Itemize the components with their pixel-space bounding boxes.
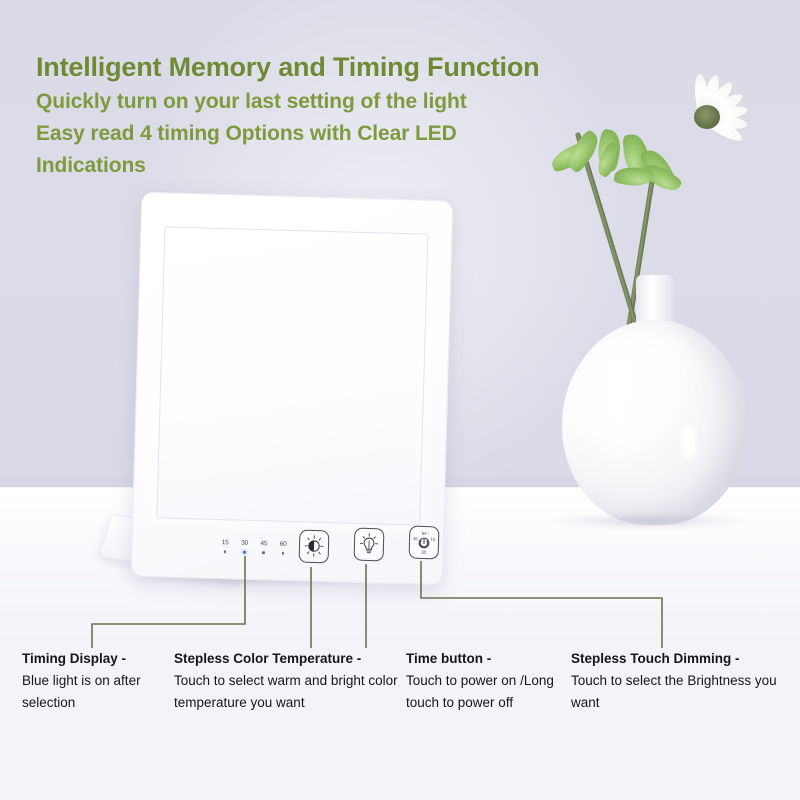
timing-option-15: 15 bbox=[217, 539, 234, 561]
callout-title: Stepless Touch Dimming - bbox=[571, 648, 796, 670]
callout-title: Time button - bbox=[406, 648, 566, 670]
vase-highlight-small bbox=[682, 425, 696, 459]
callout-time-button: Time button - Touch to power on /Long to… bbox=[406, 648, 566, 714]
flower-center bbox=[694, 105, 720, 129]
time-button[interactable] bbox=[354, 528, 385, 562]
timing-label-30: 30 bbox=[236, 540, 252, 548]
timing-option-30: 30 bbox=[236, 540, 253, 562]
ceramic-vase bbox=[562, 275, 747, 525]
svg-text:15: 15 bbox=[431, 537, 436, 542]
timing-label-45: 45 bbox=[256, 540, 272, 548]
subtitle-line-3: Indications bbox=[36, 152, 596, 180]
svg-text:30: 30 bbox=[421, 550, 426, 555]
subtitle-line-2: Easy read 4 timing Options with Clear LE… bbox=[36, 120, 596, 148]
timing-option-60: 60 bbox=[275, 541, 292, 563]
power-dial-icon: 60 45 15 30 bbox=[410, 527, 439, 559]
timing-label-15: 15 bbox=[217, 539, 233, 547]
callout-touch-dimming: Stepless Touch Dimming - Touch to select… bbox=[571, 648, 796, 714]
callout-timing-display: Timing Display - Blue light is on after … bbox=[22, 648, 174, 714]
callout-title: Timing Display - bbox=[22, 648, 174, 670]
vase-body bbox=[562, 320, 747, 525]
callout-desc: Touch to select the Brightness you want bbox=[571, 670, 796, 714]
infographic-canvas: 15 30 45 60 bbox=[0, 0, 800, 800]
timing-led-60 bbox=[282, 552, 285, 555]
led-light-panel bbox=[156, 226, 428, 525]
timing-led-45 bbox=[262, 551, 265, 554]
half-sun-icon bbox=[300, 531, 329, 563]
svg-text:60: 60 bbox=[422, 531, 427, 536]
callout-color-temperature: Stepless Color Temperature - Touch to se… bbox=[174, 648, 400, 714]
timing-option-45: 45 bbox=[255, 540, 272, 562]
vase-highlight bbox=[608, 367, 628, 459]
vase-shadow bbox=[548, 513, 748, 529]
timing-display: 15 30 45 60 bbox=[217, 539, 292, 563]
lamp-body bbox=[131, 192, 454, 586]
callout-desc: Touch to power on /Long touch to power o… bbox=[406, 670, 566, 714]
timing-label-60: 60 bbox=[275, 541, 291, 549]
svg-text:45: 45 bbox=[413, 536, 418, 541]
light-therapy-lamp: 15 30 45 60 bbox=[104, 196, 454, 596]
callout-desc: Touch to select warm and bright color te… bbox=[174, 670, 400, 714]
callout-desc: Blue light is on after selection bbox=[22, 670, 174, 714]
page-title: Intelligent Memory and Timing Function bbox=[36, 52, 616, 83]
timing-led-15 bbox=[224, 550, 227, 553]
lightbulb-icon bbox=[355, 529, 384, 561]
subtitle-line-1: Quickly turn on your last setting of the… bbox=[36, 88, 596, 116]
callout-title: Stepless Color Temperature - bbox=[174, 648, 400, 670]
daisy-flower bbox=[664, 67, 774, 147]
timing-led-30 bbox=[243, 551, 246, 554]
color-temperature-button[interactable] bbox=[299, 530, 330, 564]
dimming-button[interactable]: 60 45 15 30 bbox=[409, 526, 440, 560]
